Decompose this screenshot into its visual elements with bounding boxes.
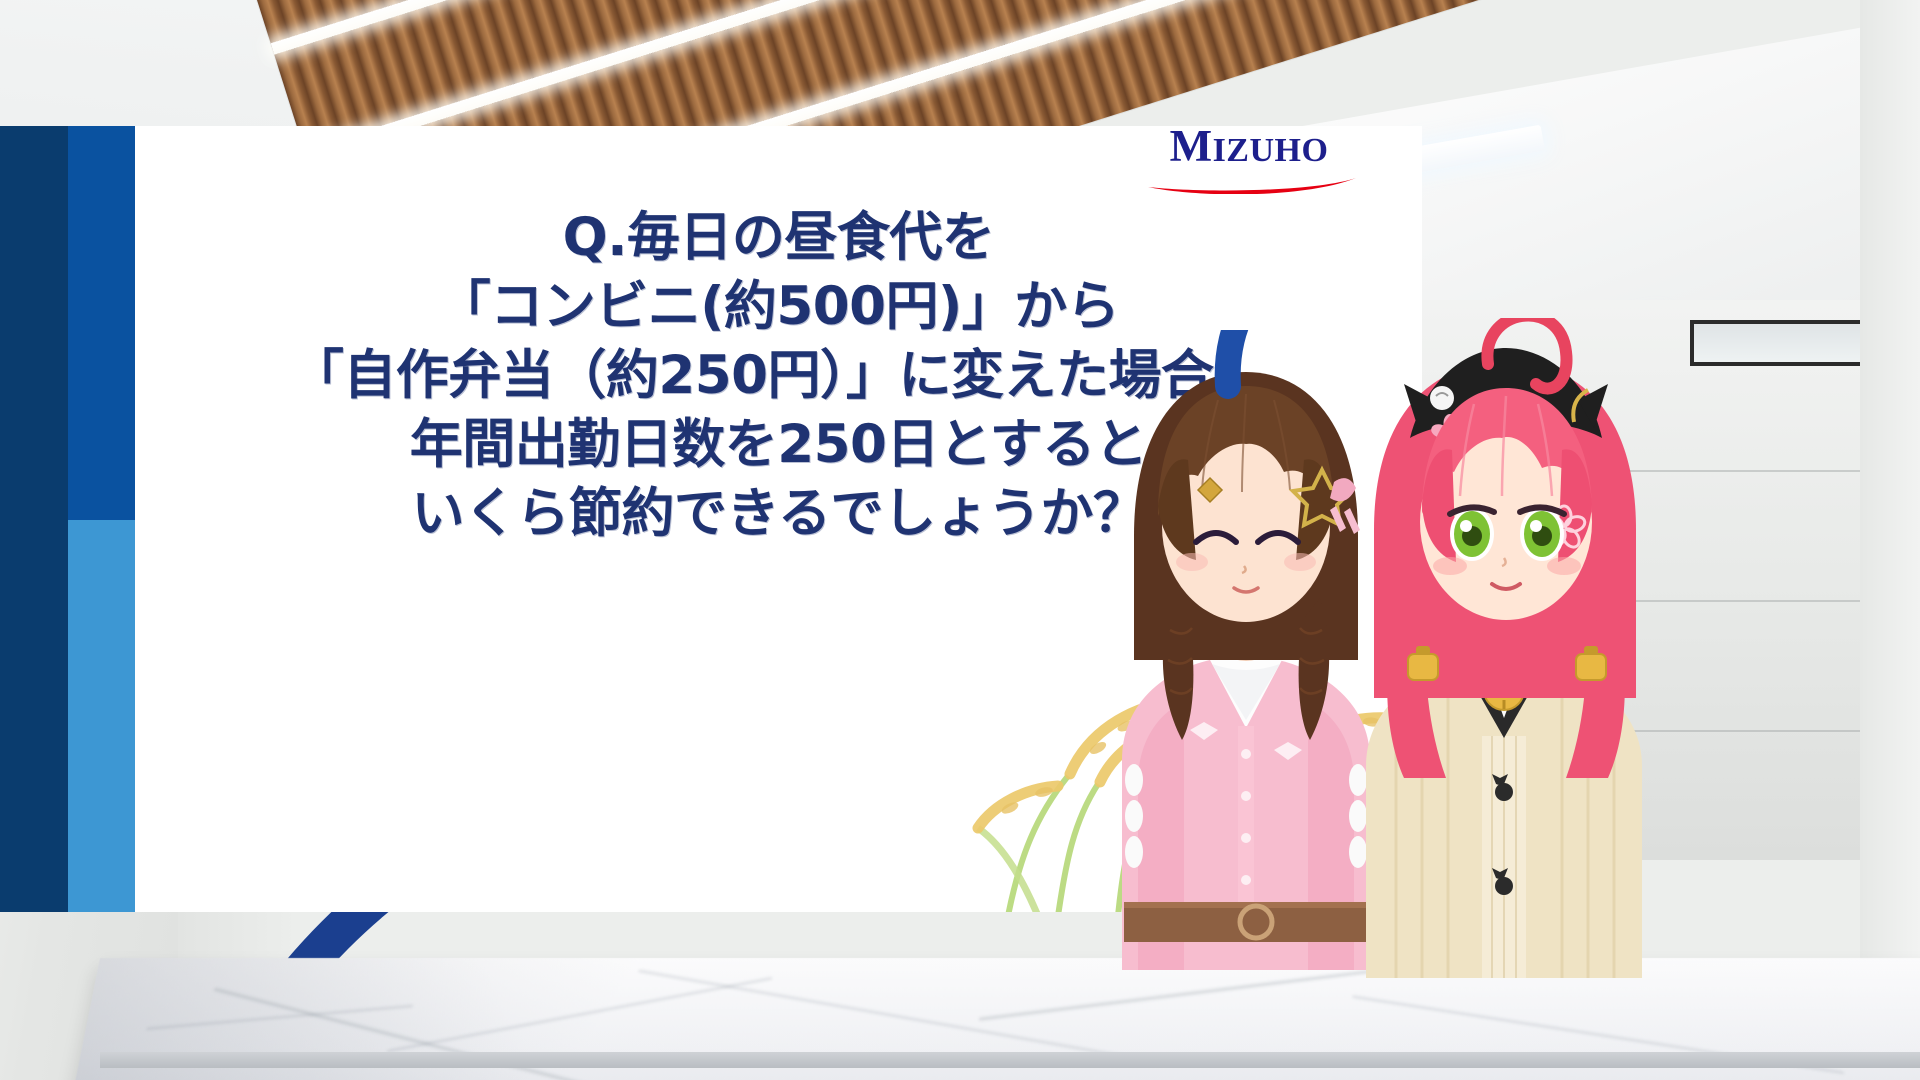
slide-accent-bar-mid bbox=[68, 126, 135, 520]
slide-accent-bar-light bbox=[68, 520, 135, 912]
table-edge bbox=[100, 1052, 1920, 1068]
mizuho-wordmark-rest: IZUHO bbox=[1213, 132, 1329, 169]
mizuho-wordmark-initial: M bbox=[1170, 126, 1213, 171]
mizuho-logo: MIZUHO bbox=[1124, 126, 1374, 210]
headline-line-1: Q.毎日の昼食代を bbox=[135, 204, 1422, 273]
mizuho-swoosh-icon bbox=[1146, 176, 1358, 194]
avatar-right bbox=[1330, 318, 1680, 978]
slide-accent-bar-dark bbox=[0, 126, 68, 912]
mizuho-wordmark: MIZUHO bbox=[1124, 126, 1374, 169]
